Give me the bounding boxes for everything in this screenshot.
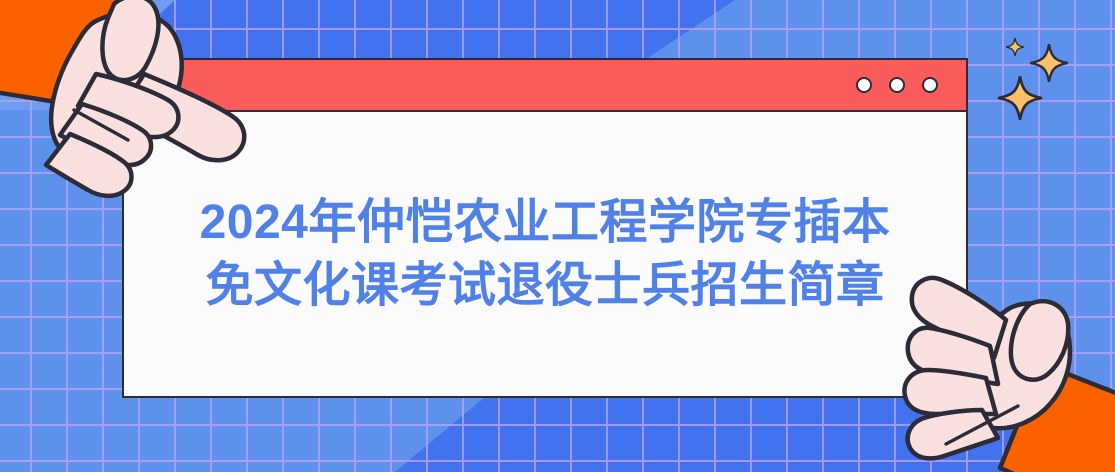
sparkle-small-icon [1006,38,1024,56]
browser-window-card: 2024年仲恺农业工程学院专插本 免文化课考试退役士兵招生简章 [122,58,968,398]
background-wedge-bottom-left [0,395,460,472]
window-titlebar [124,60,966,112]
background-wedge-bottom [395,397,1115,472]
window-dot-close[interactable] [856,77,872,93]
window-controls [856,60,938,110]
window-content: 2024年仲恺农业工程学院专插本 免文化课考试退役士兵招生简章 [124,112,966,396]
window-dot-minimize[interactable] [889,77,905,93]
window-dot-maximize[interactable] [922,77,938,93]
sparkle-large-icon [998,76,1042,120]
headline-line-1: 2024年仲恺农业工程学院专插本 [200,191,891,254]
poster-canvas: 2024年仲恺农业工程学院专插本 免文化课考试退役士兵招生简章 [0,0,1115,472]
headline-line-2: 免文化课考试退役士兵招生简章 [205,254,884,317]
